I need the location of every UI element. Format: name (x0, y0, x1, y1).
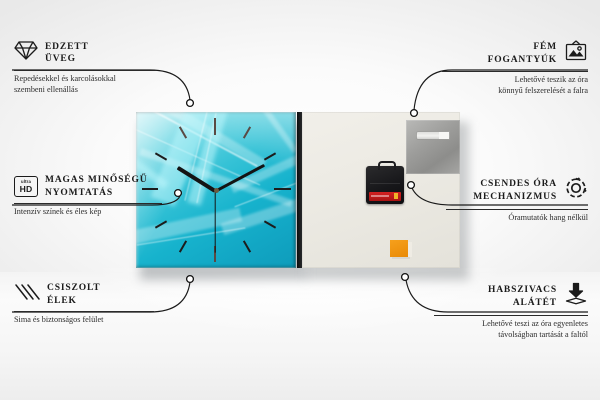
feature-title: HABSZIVACSALÁTÉT (488, 284, 557, 309)
feature-csendes-ora-mechanizmus[interactable]: CSENDES ÓRAMECHANIZMUS Óramutatók hang n… (446, 176, 588, 224)
feature-divider (14, 203, 162, 204)
leader-dot-habszivacs (402, 274, 409, 281)
feature-header: EDZETTÜVEG (14, 40, 156, 66)
feature-divider (446, 209, 588, 210)
gear-icon (564, 176, 588, 205)
picture-hanger-icon (564, 40, 588, 67)
feature-description: Lehetővé teszi az óra egyenletestávolság… (434, 319, 588, 340)
feature-description: Intenzív színek és éles kép (14, 207, 162, 218)
feature-divider (442, 71, 588, 72)
leader-dot-csiszolt-elek (187, 276, 194, 283)
leader-dot-csendes-ora (408, 182, 415, 189)
feature-title: MAGAS MINŐSÉGŰNYOMTATÁS (45, 174, 147, 199)
diamond-icon (14, 40, 38, 66)
feature-description: Repedésekkel és karcolásokkalszembeni el… (14, 74, 156, 95)
feature-habszivacs-alatet[interactable]: HABSZIVACSALÁTÉT Lehetővé teszi az óra e… (434, 282, 588, 340)
beveled-edges-icon (14, 282, 40, 307)
feature-description: Lehetővé teszik az órakönnyű felszerelés… (442, 75, 588, 96)
feature-fem-fogantyuk[interactable]: FÉMFOGANTYÚK Lehetővé teszik az órakönny… (442, 40, 588, 96)
feature-csiszolt-elek[interactable]: CSISZOLTÉLEK Sima és biztonságos felület (14, 282, 154, 326)
feature-magas-minosegu-nyomtatas[interactable]: ultra HD MAGAS MINŐSÉGŰNYOMTATÁS Intenzí… (14, 174, 162, 218)
feature-header: ultra HD MAGAS MINŐSÉGŰNYOMTATÁS (14, 174, 162, 199)
feature-title: CSISZOLTÉLEK (47, 282, 100, 307)
foam-pad-arrow-icon (564, 282, 588, 311)
feature-header: CSENDES ÓRAMECHANIZMUS (446, 176, 588, 205)
feature-description: Sima és biztonságos felület (14, 315, 154, 326)
leader-dot-fem-fogantyuk (411, 110, 418, 117)
feature-title: EDZETTÜVEG (45, 41, 89, 66)
feature-header: FÉMFOGANTYÚK (442, 40, 588, 67)
feature-divider (434, 315, 588, 316)
feature-header: HABSZIVACSALÁTÉT (434, 282, 588, 311)
feature-edzett-uveg[interactable]: EDZETTÜVEG Repedésekkel és karcolásokkal… (14, 40, 156, 95)
leader-dot-magas-minosegu (175, 190, 182, 197)
feature-divider (14, 311, 154, 312)
infographic-canvas: EDZETTÜVEG Repedésekkel és karcolásokkal… (0, 0, 600, 400)
leader-dot-edzett-uveg (187, 100, 194, 107)
feature-description: Óramutatók hang nélkül (446, 213, 588, 224)
feature-divider (14, 70, 156, 71)
ultra-hd-icon: ultra HD (14, 176, 38, 197)
feature-title: CSENDES ÓRAMECHANIZMUS (473, 178, 557, 203)
feature-title: FÉMFOGANTYÚK (488, 41, 557, 66)
feature-header: CSISZOLTÉLEK (14, 282, 154, 307)
